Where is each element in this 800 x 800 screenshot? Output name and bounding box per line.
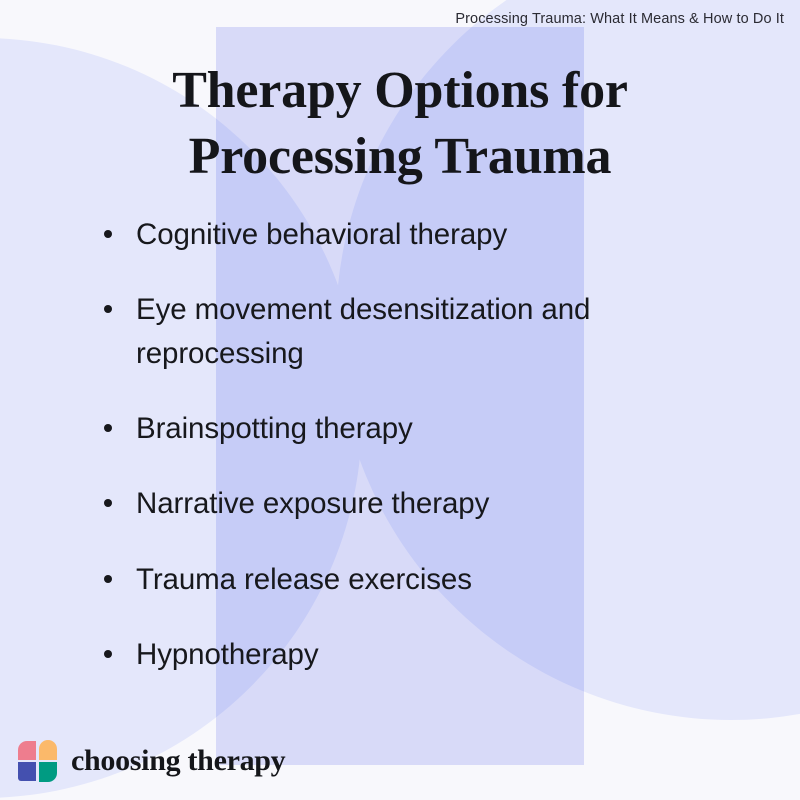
bullet-dot-icon [104, 499, 112, 507]
content-area: Processing Trauma: What It Means & How t… [0, 0, 800, 800]
page-title: Therapy Options for Processing Trauma [60, 58, 740, 189]
bullet-dot-icon [104, 424, 112, 432]
list-item: Hypnotherapy [96, 633, 736, 676]
logo-quadrant-bottom-left-icon [18, 762, 36, 781]
list-item: Trauma release exercises [96, 558, 736, 601]
brand-name: choosing therapy [71, 744, 285, 778]
list-item: Narrative exposure therapy [96, 482, 736, 525]
list-item-label: Brainspotting therapy [136, 412, 413, 445]
therapy-options-list: Cognitive behavioral therapy Eye movemen… [96, 213, 736, 709]
choosing-therapy-logo-mark-icon [18, 740, 58, 782]
bullet-dot-icon [104, 305, 112, 313]
list-item-label: Trauma release exercises [136, 563, 472, 596]
page-title-line-1: Therapy Options for [60, 58, 740, 124]
infographic-canvas: Processing Trauma: What It Means & How t… [0, 0, 800, 800]
list-item-label: Narrative exposure therapy [136, 487, 489, 520]
list-item: Cognitive behavioral therapy [96, 213, 736, 256]
logo-quadrant-bottom-right-icon [39, 762, 57, 782]
logo-quadrant-top-right-icon [39, 740, 57, 760]
list-item-label: Hypnotherapy [136, 638, 318, 671]
brand-logo: choosing therapy [18, 740, 285, 782]
bullet-dot-icon [104, 575, 112, 583]
bullet-dot-icon [104, 230, 112, 238]
list-item-label: Cognitive behavioral therapy [136, 218, 507, 251]
list-item: Eye movement desensitization and reproce… [96, 288, 736, 375]
list-item-label: Eye movement desensitization and reproce… [136, 293, 590, 369]
list-item: Brainspotting therapy [96, 407, 736, 450]
page-title-line-2: Processing Trauma [60, 124, 740, 190]
bullet-dot-icon [104, 650, 112, 658]
article-kicker: Processing Trauma: What It Means & How t… [455, 11, 784, 27]
logo-quadrant-top-left-icon [18, 741, 36, 760]
